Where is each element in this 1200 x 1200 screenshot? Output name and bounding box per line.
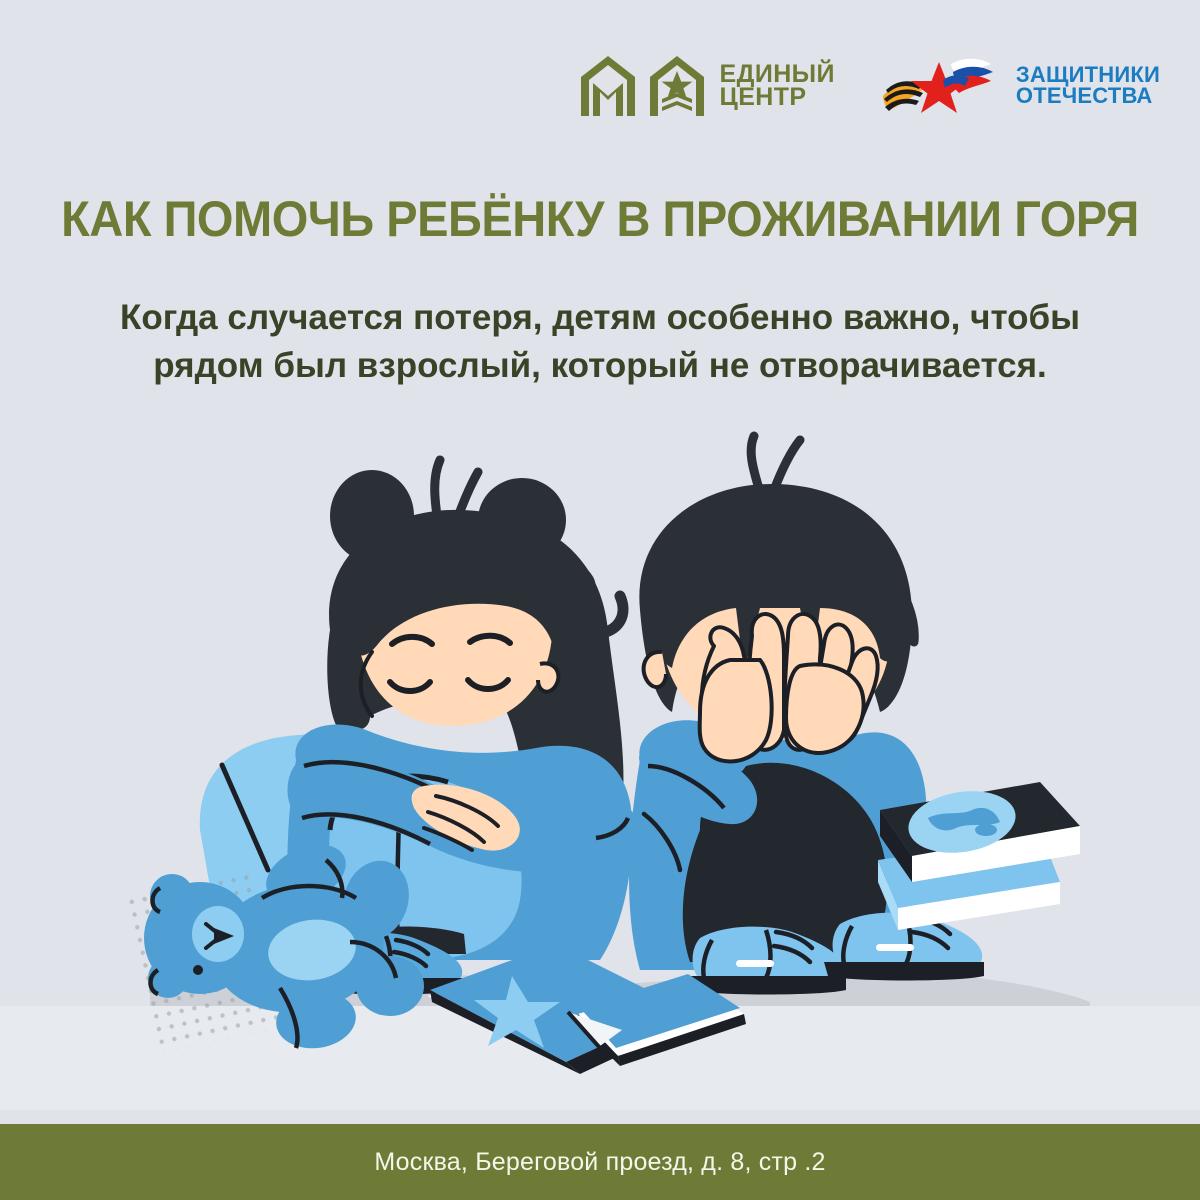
- star-chevron-icon: [646, 53, 708, 119]
- page-title: КАК ПОМОЧЬ РЕБЁНКУ В ПРОЖИВАНИИ ГОРЯ: [36, 190, 1164, 248]
- poster-root: ЕДИНЫЙ ЦЕНТР: [0, 0, 1200, 1200]
- zashchitniki-line2: ОТЕЧЕСТВА: [1016, 86, 1160, 107]
- logo-zashchitniki-otechestva[interactable]: ЗАЩИТНИКИ ОТЕЧЕСТВА: [881, 54, 1160, 118]
- zashchitniki-emblem-icon: [881, 54, 1007, 118]
- zashchitniki-label: ЗАЩИТНИКИ ОТЕЧЕСТВА: [1016, 65, 1160, 107]
- header-logos: ЕДИНЫЙ ЦЕНТР: [0, 44, 1200, 128]
- edinyy-centr-line2: ЦЕНТР: [720, 86, 835, 110]
- monogram-m-icon: [577, 53, 639, 119]
- footer-bar: Москва, Береговой проезд, д. 8, стр .2: [0, 1124, 1200, 1200]
- two-sad-children-illustration: [0, 430, 1200, 1110]
- edinyy-centr-marks: [577, 53, 708, 119]
- footer-address: Москва, Береговой проезд, д. 8, стр .2: [374, 1148, 825, 1177]
- page-subtitle: Когда случается потеря, детям особенно в…: [70, 294, 1130, 389]
- logo-edinyy-centr[interactable]: ЕДИНЫЙ ЦЕНТР: [577, 53, 835, 119]
- teddy-eye: [193, 965, 203, 975]
- illustration: [0, 430, 1200, 1110]
- edinyy-centr-label: ЕДИНЫЙ ЦЕНТР: [720, 63, 835, 110]
- hands-covering-face: [700, 614, 878, 761]
